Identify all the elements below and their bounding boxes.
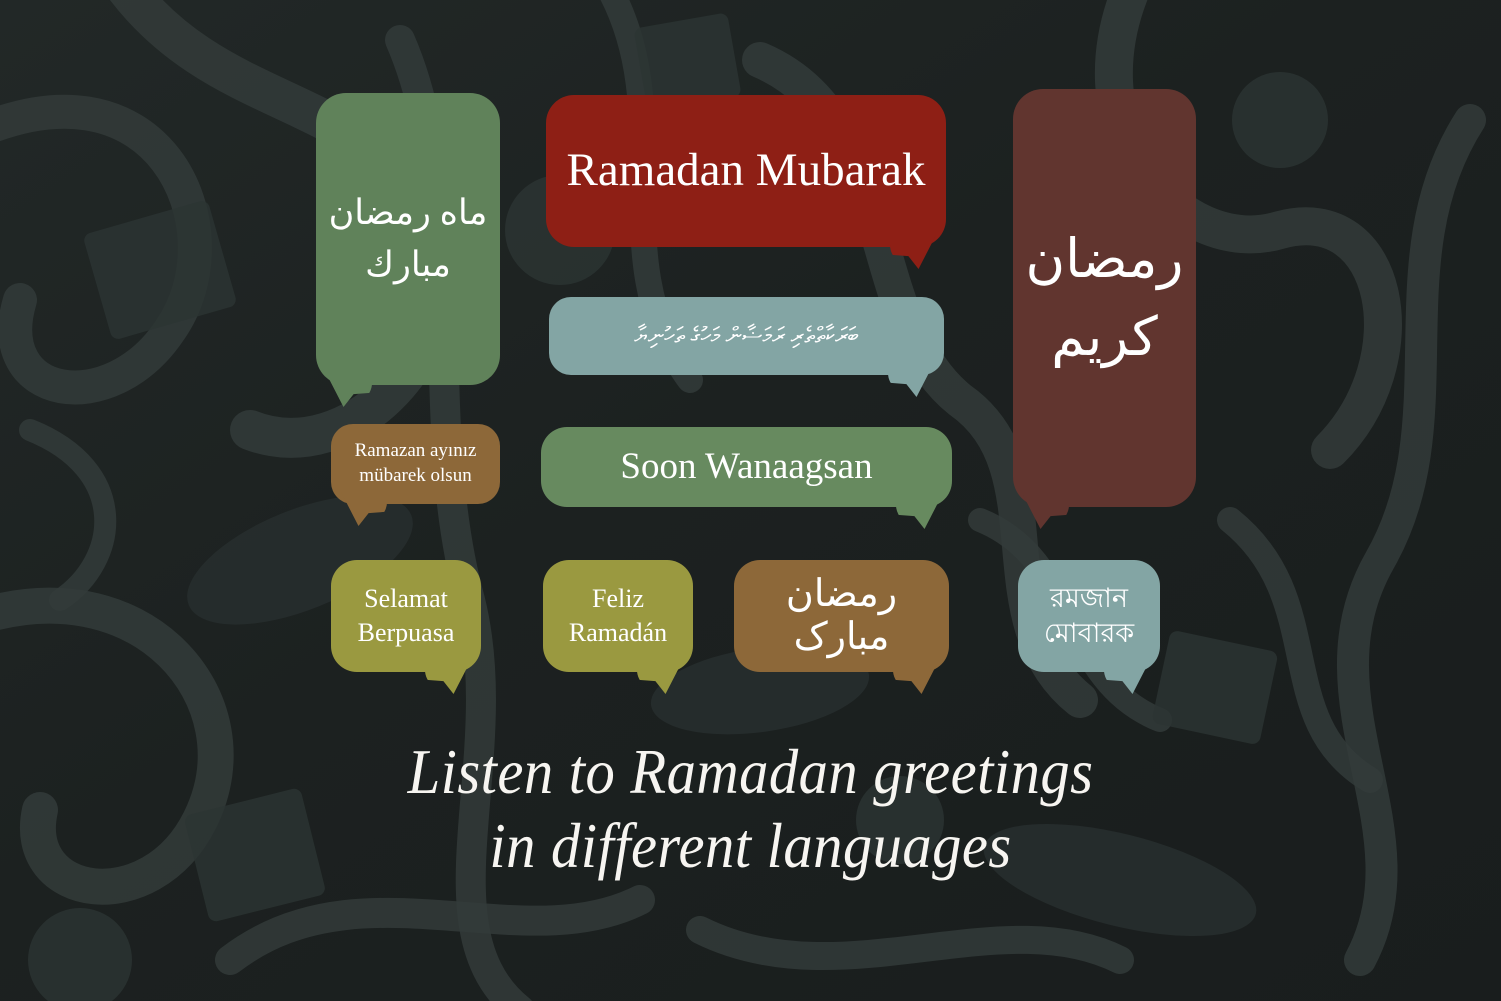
bubble-text-turkish: Ramazan ayınız mübarek olsun <box>331 439 500 488</box>
bubble-text-spanish: Feliz Ramadán <box>543 582 693 650</box>
bubble-text-dhivehi: ބަރަކާތްތެރި ރަމަޟާން މަހުގެ ތަހުނިޔާ <box>549 323 944 349</box>
caption-line-2: in different languages <box>53 809 1449 883</box>
caption: Listen to Ramadan greetings in different… <box>53 735 1449 884</box>
speech-bubble-turkish[interactable]: Ramazan ayınız mübarek olsun <box>331 424 500 504</box>
bubble-text-bengali: রমজান মোবারক <box>1018 581 1160 651</box>
speech-bubble-malay[interactable]: Selamat Berpuasa <box>331 560 481 672</box>
speech-bubble-persian[interactable]: ماه رمضان مبارك <box>316 93 500 385</box>
speech-bubble-english[interactable]: Ramadan Mubarak <box>546 95 946 247</box>
bubble-text-english: Ramadan Mubarak <box>546 142 946 199</box>
bubble-text-somali: Soon Wanaagsan <box>541 446 952 487</box>
bubble-text-arabic: رمضان كريم <box>1013 220 1196 377</box>
speech-bubble-somali[interactable]: Soon Wanaagsan <box>541 427 952 507</box>
bubble-text-malay: Selamat Berpuasa <box>331 582 481 650</box>
speech-bubble-dhivehi[interactable]: ބަރަކާތްތެރި ރަމަޟާން މަހުގެ ތަހުނިޔާ <box>549 297 944 375</box>
bubble-text-urdu: رمضان مبارک <box>734 573 949 658</box>
speech-bubble-arabic[interactable]: رمضان كريم <box>1013 89 1196 507</box>
caption-line-1: Listen to Ramadan greetings <box>53 735 1449 809</box>
bubble-text-persian: ماه رمضان مبارك <box>316 187 500 292</box>
speech-bubble-bengali[interactable]: রমজান মোবারক <box>1018 560 1160 672</box>
speech-bubble-spanish[interactable]: Feliz Ramadán <box>543 560 693 672</box>
speech-bubble-urdu[interactable]: رمضان مبارک <box>734 560 949 672</box>
